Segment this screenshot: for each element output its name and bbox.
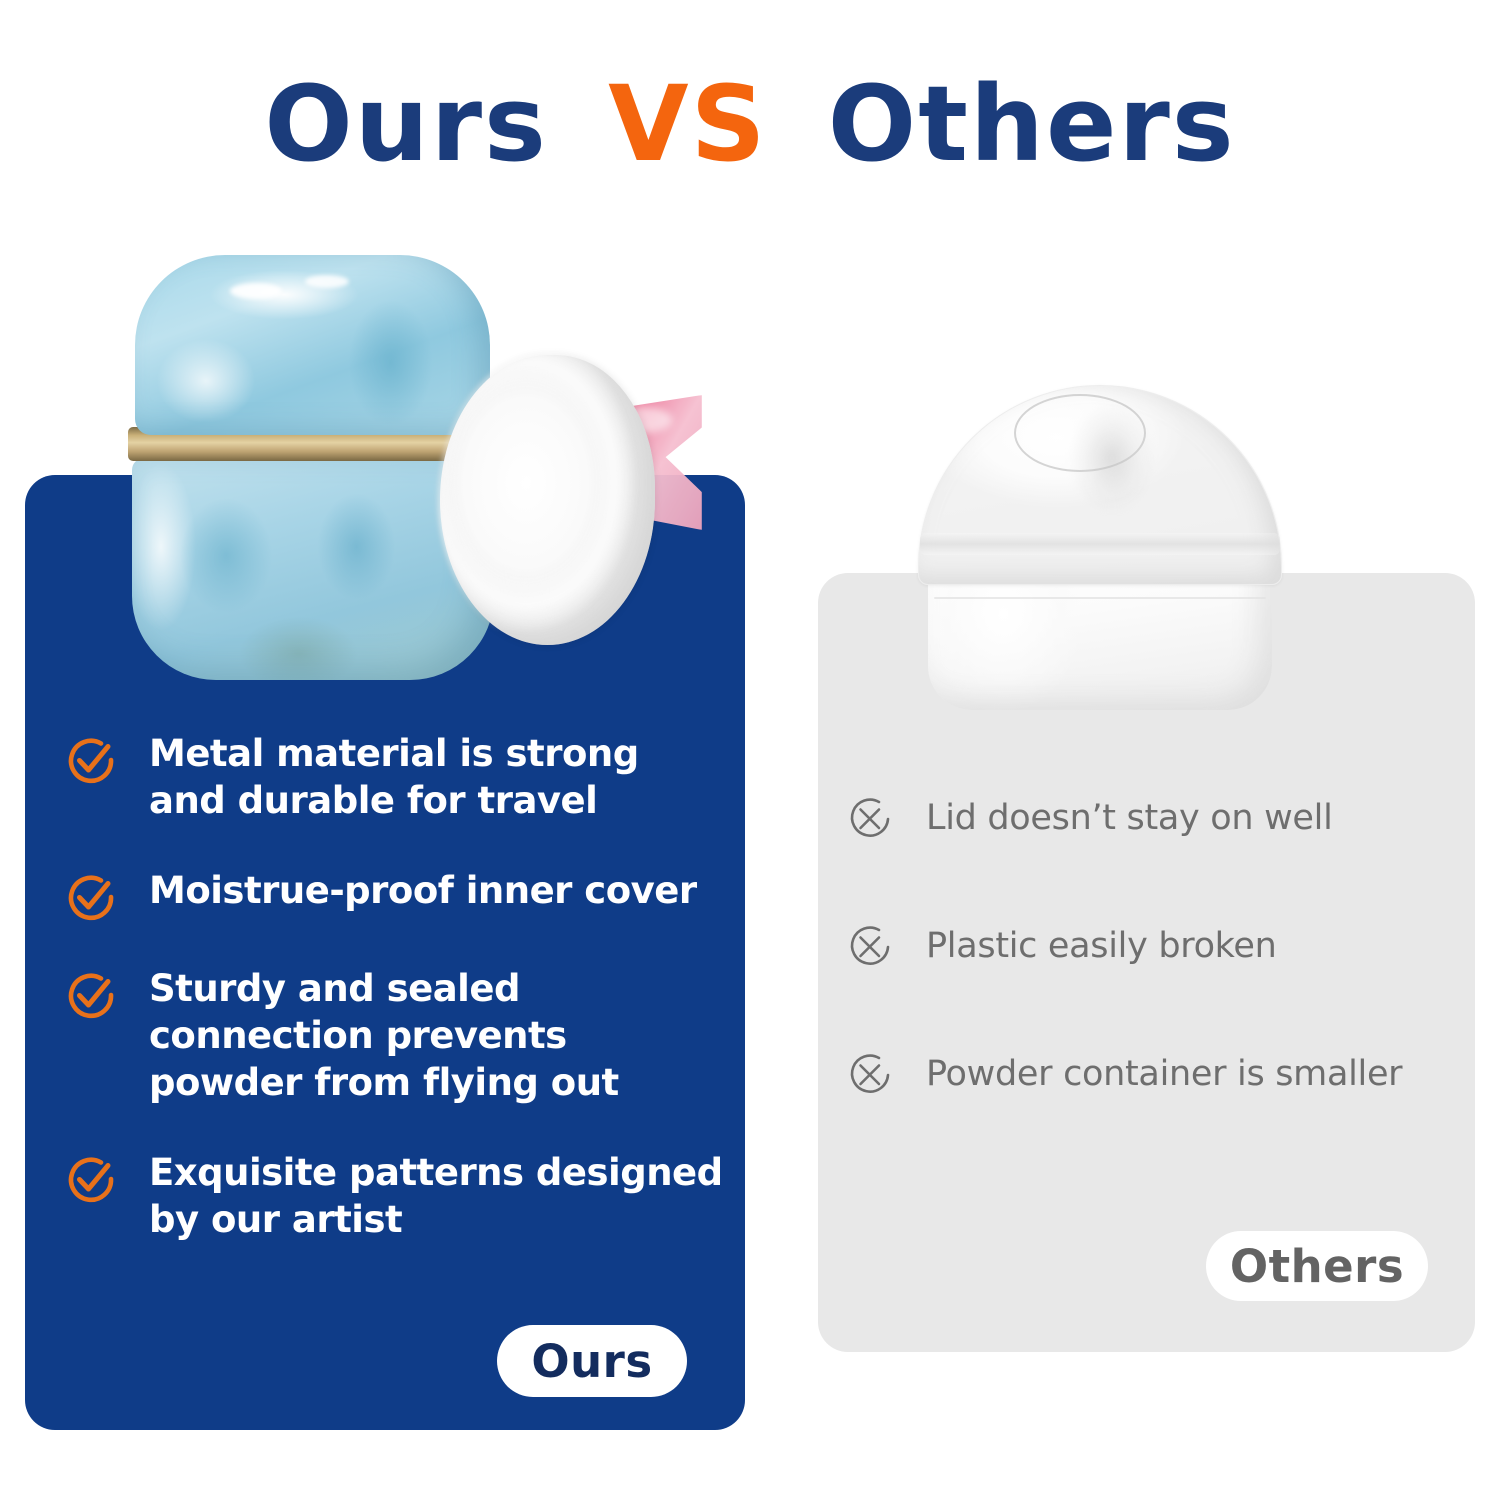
check-circle-icon <box>65 969 117 1021</box>
page-title: Ours VS Others <box>0 70 1500 179</box>
jar-base-groove <box>934 597 1266 599</box>
feature-text: Exquisite patterns designed by our artis… <box>149 1149 725 1244</box>
drawback-text: Lid doesn’t stay on well <box>926 797 1333 841</box>
clear-dome-lid <box>918 385 1282 585</box>
list-item: Plastic easily broken <box>846 923 1466 971</box>
ours-badge: Ours <box>497 1325 687 1397</box>
list-item: Lid doesn’t stay on well <box>846 795 1466 843</box>
feature-text: Metal material is strong and durable for… <box>149 730 725 825</box>
list-item: Sturdy and sealed connection prevents po… <box>65 965 725 1107</box>
cross-circle-icon <box>846 795 894 843</box>
list-item: Metal material is strong and durable for… <box>65 730 725 825</box>
lid-highlight <box>230 283 282 299</box>
check-circle-icon <box>65 871 117 923</box>
feature-text: Moistrue-proof inner cover <box>149 867 697 914</box>
others-drawback-list: Lid doesn’t stay on well Plastic easily … <box>846 795 1466 1179</box>
cross-circle-icon <box>846 1051 894 1099</box>
metal-tin-lid <box>135 255 490 435</box>
feature-text: Sturdy and sealed connection prevents po… <box>149 965 725 1107</box>
title-word-vs: VS <box>608 63 767 185</box>
cross-circle-icon <box>846 923 894 971</box>
dome-lid-rim <box>920 533 1280 555</box>
drawback-text: Plastic easily broken <box>926 925 1277 969</box>
drawback-text: Powder container is smaller <box>926 1053 1402 1097</box>
ours-feature-list: Metal material is strong and durable for… <box>65 730 725 1286</box>
list-item: Powder container is smaller <box>846 1051 1466 1099</box>
list-item: Moistrue-proof inner cover <box>65 867 725 923</box>
others-badge: Others <box>1206 1231 1428 1301</box>
ours-product-image <box>120 255 730 675</box>
list-item: Exquisite patterns designed by our artis… <box>65 1149 725 1244</box>
check-circle-icon <box>65 1153 117 1205</box>
others-product-image <box>900 385 1300 730</box>
lid-highlight <box>305 275 349 288</box>
dome-reflection <box>1069 404 1155 512</box>
powder-puff-fuzz <box>438 353 657 647</box>
title-word-others: Others <box>828 63 1236 185</box>
title-word-ours: Ours <box>264 63 548 185</box>
check-circle-icon <box>65 734 117 786</box>
